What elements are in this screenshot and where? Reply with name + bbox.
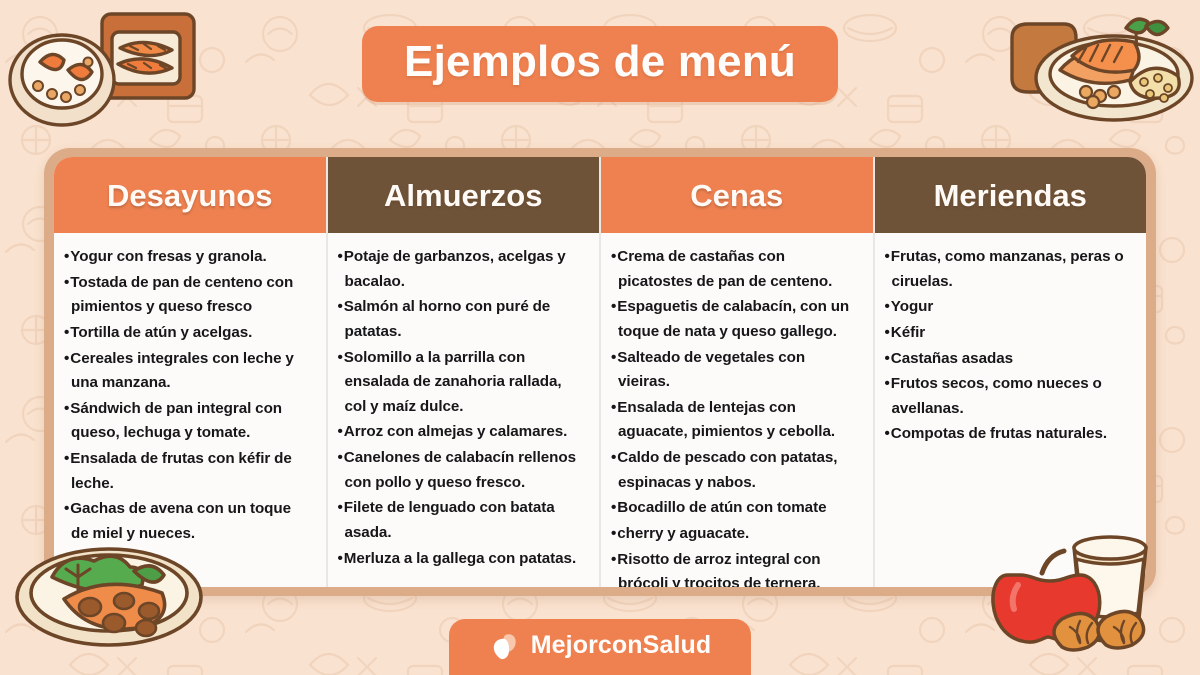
column-title: Almuerzos	[384, 180, 542, 211]
menu-list-cenas: Crema de castañas con picatostes de pan …	[611, 245, 859, 587]
list-item: Merluza a la gallega con patatas.	[338, 547, 586, 572]
list-item: Yogur	[885, 295, 1133, 320]
menu-table: Desayunos Yogur con fresas y granola. To…	[54, 157, 1146, 587]
list-item: cherry y aguacate.	[611, 522, 859, 547]
list-item: Sándwich de pan integral con queso, lech…	[64, 397, 312, 446]
list-item: Espaguetis de calabacín, con un toque de…	[611, 295, 859, 344]
column-title: Desayunos	[107, 180, 272, 211]
list-item: Risotto de arroz integral con brócoli y …	[611, 548, 859, 588]
list-item: Salmón al horno con puré de patatas.	[338, 295, 586, 344]
page-title-container: Ejemplos de menú	[0, 26, 1200, 102]
column-header-almuerzos: Almuerzos	[328, 157, 600, 233]
list-item: Yogur con fresas y granola.	[64, 245, 312, 270]
list-item: Caldo de pescado con patatas, espinacas …	[611, 446, 859, 495]
column-header-desayunos: Desayunos	[54, 157, 326, 233]
menu-list-meriendas: Frutas, como manzanas, peras o ciruelas.…	[885, 245, 1133, 447]
list-item: Castañas asadas	[885, 347, 1133, 372]
list-item: Ensalada de frutas con kéfir de leche.	[64, 447, 312, 496]
list-item: Canelones de calabacín rellenos con poll…	[338, 446, 586, 495]
menu-list-almuerzos: Potaje de garbanzos, acelgas y bacalao. …	[338, 245, 586, 571]
list-item: Compotas de frutas naturales.	[885, 422, 1133, 447]
footer-brand-container: MejorconSalud	[0, 619, 1200, 675]
menu-column-meriendas: Meriendas Frutas, como manzanas, peras o…	[873, 157, 1147, 587]
list-item: Salteado de vegetales con vieiras.	[611, 346, 859, 395]
title-pill: Ejemplos de menú	[362, 26, 838, 102]
list-item: Solomillo a la parrilla con ensalada de …	[338, 346, 586, 420]
list-item: Cereales integrales con leche y una manz…	[64, 347, 312, 396]
column-title: Meriendas	[934, 180, 1087, 211]
list-item: Bocadillo de atún con tomate	[611, 496, 859, 521]
list-item: Kéfir	[885, 321, 1133, 346]
brand-pill[interactable]: MejorconSalud	[449, 619, 752, 675]
list-item: Gachas de avena con un toque de miel y n…	[64, 497, 312, 546]
menu-column-almuerzos: Almuerzos Potaje de garbanzos, acelgas y…	[326, 157, 600, 587]
list-item: Crema de castañas con picatostes de pan …	[611, 245, 859, 294]
list-item: Tortilla de atún y acelgas.	[64, 321, 312, 346]
list-item: Potaje de garbanzos, acelgas y bacalao.	[338, 245, 586, 294]
column-title: Cenas	[690, 180, 783, 211]
menu-column-cenas: Cenas Crema de castañas con picatostes d…	[599, 157, 873, 587]
column-body-meriendas: Frutas, como manzanas, peras o ciruelas.…	[875, 233, 1147, 587]
page-title: Ejemplos de menú	[404, 40, 796, 84]
list-item: Frutos secos, como nueces o avellanas.	[885, 372, 1133, 421]
list-item: Frutas, como manzanas, peras o ciruelas.	[885, 245, 1133, 294]
leaf-petal-icon	[489, 630, 520, 661]
column-header-meriendas: Meriendas	[875, 157, 1147, 233]
list-item: Arroz con almejas y calamares.	[338, 420, 586, 445]
menu-list-desayunos: Yogur con fresas y granola. Tostada de p…	[64, 245, 312, 547]
column-body-cenas: Crema de castañas con picatostes de pan …	[601, 233, 873, 587]
list-item: Tostada de pan de centeno con pimientos …	[64, 271, 312, 320]
column-header-cenas: Cenas	[601, 157, 873, 233]
column-body-desayunos: Yogur con fresas y granola. Tostada de p…	[54, 233, 326, 587]
brand-name: MejorconSalud	[531, 633, 712, 658]
column-body-almuerzos: Potaje de garbanzos, acelgas y bacalao. …	[328, 233, 600, 587]
menu-column-desayunos: Desayunos Yogur con fresas y granola. To…	[54, 157, 326, 587]
list-item: Filete de lenguado con batata asada.	[338, 496, 586, 545]
list-item: Ensalada de lentejas con aguacate, pimie…	[611, 396, 859, 445]
